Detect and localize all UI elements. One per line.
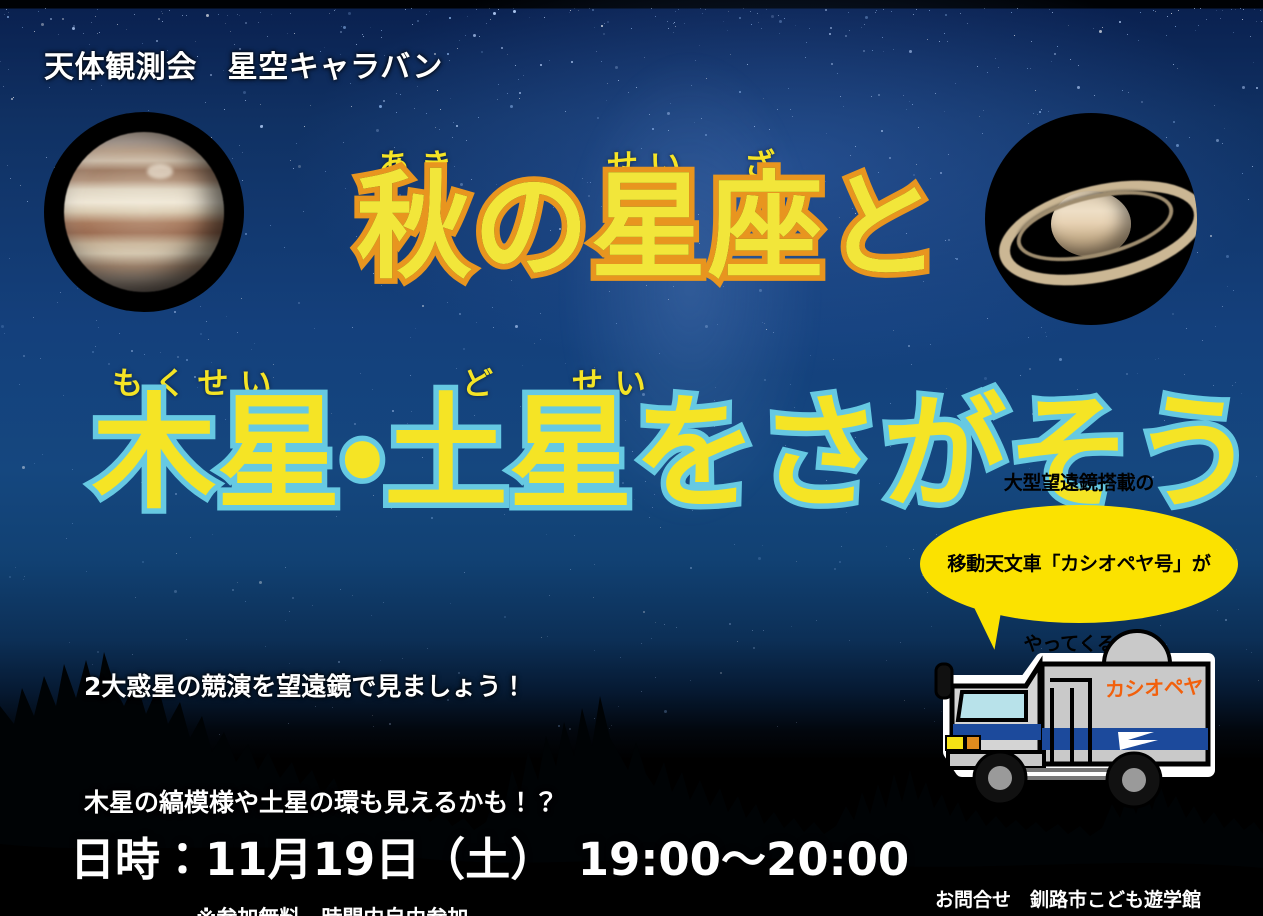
note-free-admission: ※参加無料、時間内自由参加 <box>196 903 468 916</box>
contact-label: お問合せ 釧路市こども遊学館 <box>935 887 1201 915</box>
contact-block: お問合せ 釧路市こども遊学館 0154-32-0122 <box>935 832 1201 916</box>
bubble-line-2: 移動天文車「カシオペヤ号」が <box>947 551 1210 578</box>
page-title: 天体観測会 星空キャラバン <box>44 42 443 86</box>
saturn-photo <box>985 113 1197 325</box>
saturn-illustration <box>985 113 1197 325</box>
truck-body-label: カシオペヤ <box>1105 670 1204 702</box>
jupiter-photo <box>44 112 244 312</box>
bubble-line-1: 大型望遠鏡搭載の <box>947 470 1210 497</box>
mobile-observatory-truck <box>922 620 1222 820</box>
speech-bubble: 大型望遠鏡搭載の 移動天文車「カシオペヤ号」が やってくる！ <box>920 505 1238 623</box>
poster-root: 天体観測会 星空キャラバン あき せい ざ 秋の星座と もくせい ど せい 木星… <box>0 0 1263 916</box>
event-notes: ※参加無料、時間内自由参加 ※曇天・雨天時は中止 <box>196 840 468 916</box>
lead-line-1: 2大惑星の競演を望遠鏡で見ましょう！ <box>84 668 558 707</box>
jupiter-disc <box>64 132 224 292</box>
jupiter-storm-spot <box>147 164 173 179</box>
